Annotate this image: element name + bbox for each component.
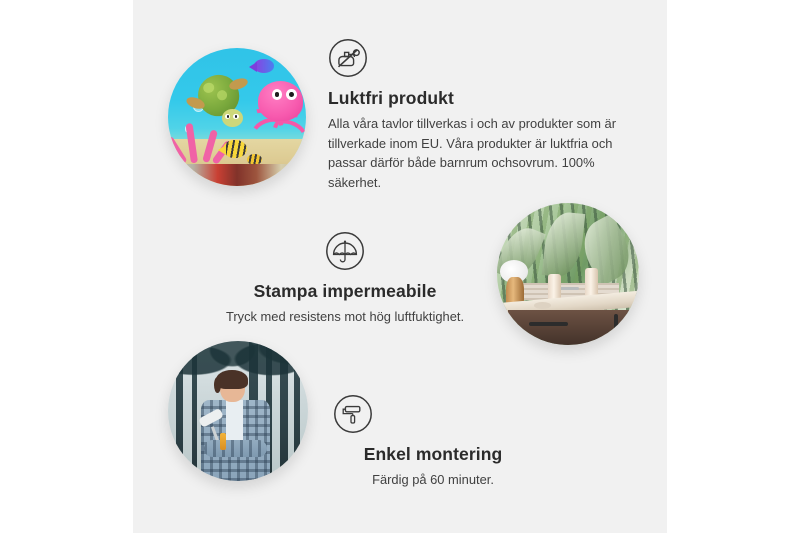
feature-odourless: Luktfri produkt Alla våra tavlor tillver… bbox=[328, 38, 626, 192]
octopus-eye bbox=[286, 89, 297, 100]
product-image-person bbox=[168, 341, 308, 481]
feature-title: Enkel montering bbox=[333, 444, 533, 465]
room-foreground-strip bbox=[168, 164, 306, 186]
coral bbox=[176, 121, 223, 162]
content-panel: Luktfri produkt Alla våra tavlor tillver… bbox=[133, 0, 667, 533]
paint-roller-icon bbox=[333, 394, 373, 434]
turtle-head bbox=[222, 109, 244, 128]
fish-blue bbox=[254, 59, 275, 73]
turtle-eye bbox=[225, 114, 231, 120]
coral-branch bbox=[186, 123, 198, 163]
product-image-bathroom bbox=[497, 203, 639, 345]
umbrella-icon bbox=[325, 231, 365, 271]
crossed-arms bbox=[204, 440, 267, 457]
octopus-eye bbox=[272, 89, 283, 100]
feature-title: Stampa impermeabile bbox=[210, 281, 480, 302]
hand-tool bbox=[220, 433, 226, 450]
bathroom-tropical-wallpaper bbox=[497, 203, 639, 345]
wood-vanity-cabinet bbox=[508, 310, 639, 346]
feature-body: Färdig på 60 minuter. bbox=[333, 470, 533, 490]
underwater-cartoon-mural bbox=[168, 48, 306, 186]
feature-body: Tryck med resistens mot hög luftfuktighe… bbox=[210, 307, 480, 327]
octopus-head bbox=[258, 81, 303, 121]
no-odour-icon bbox=[328, 38, 368, 78]
product-image-ocean bbox=[168, 48, 306, 186]
feature-easy-install: Enkel montering Färdig på 60 minuter. bbox=[333, 394, 533, 490]
fish-yellow-striped bbox=[223, 140, 246, 158]
woman-with-paint-roller bbox=[168, 341, 308, 481]
feature-body: Alla våra tavlor tillverkas i och av pro… bbox=[328, 114, 626, 192]
octopus bbox=[245, 81, 303, 147]
feature-title: Luktfri produkt bbox=[328, 88, 626, 109]
feature-waterproof: Stampa impermeabile Tryck med resistens … bbox=[210, 231, 480, 327]
screenshot-stage: Luktfri produkt Alla våra tavlor tillver… bbox=[0, 0, 800, 533]
hair bbox=[216, 370, 247, 390]
woman-figure bbox=[196, 372, 274, 481]
faucet bbox=[559, 287, 579, 290]
turtle-eye bbox=[233, 114, 239, 120]
